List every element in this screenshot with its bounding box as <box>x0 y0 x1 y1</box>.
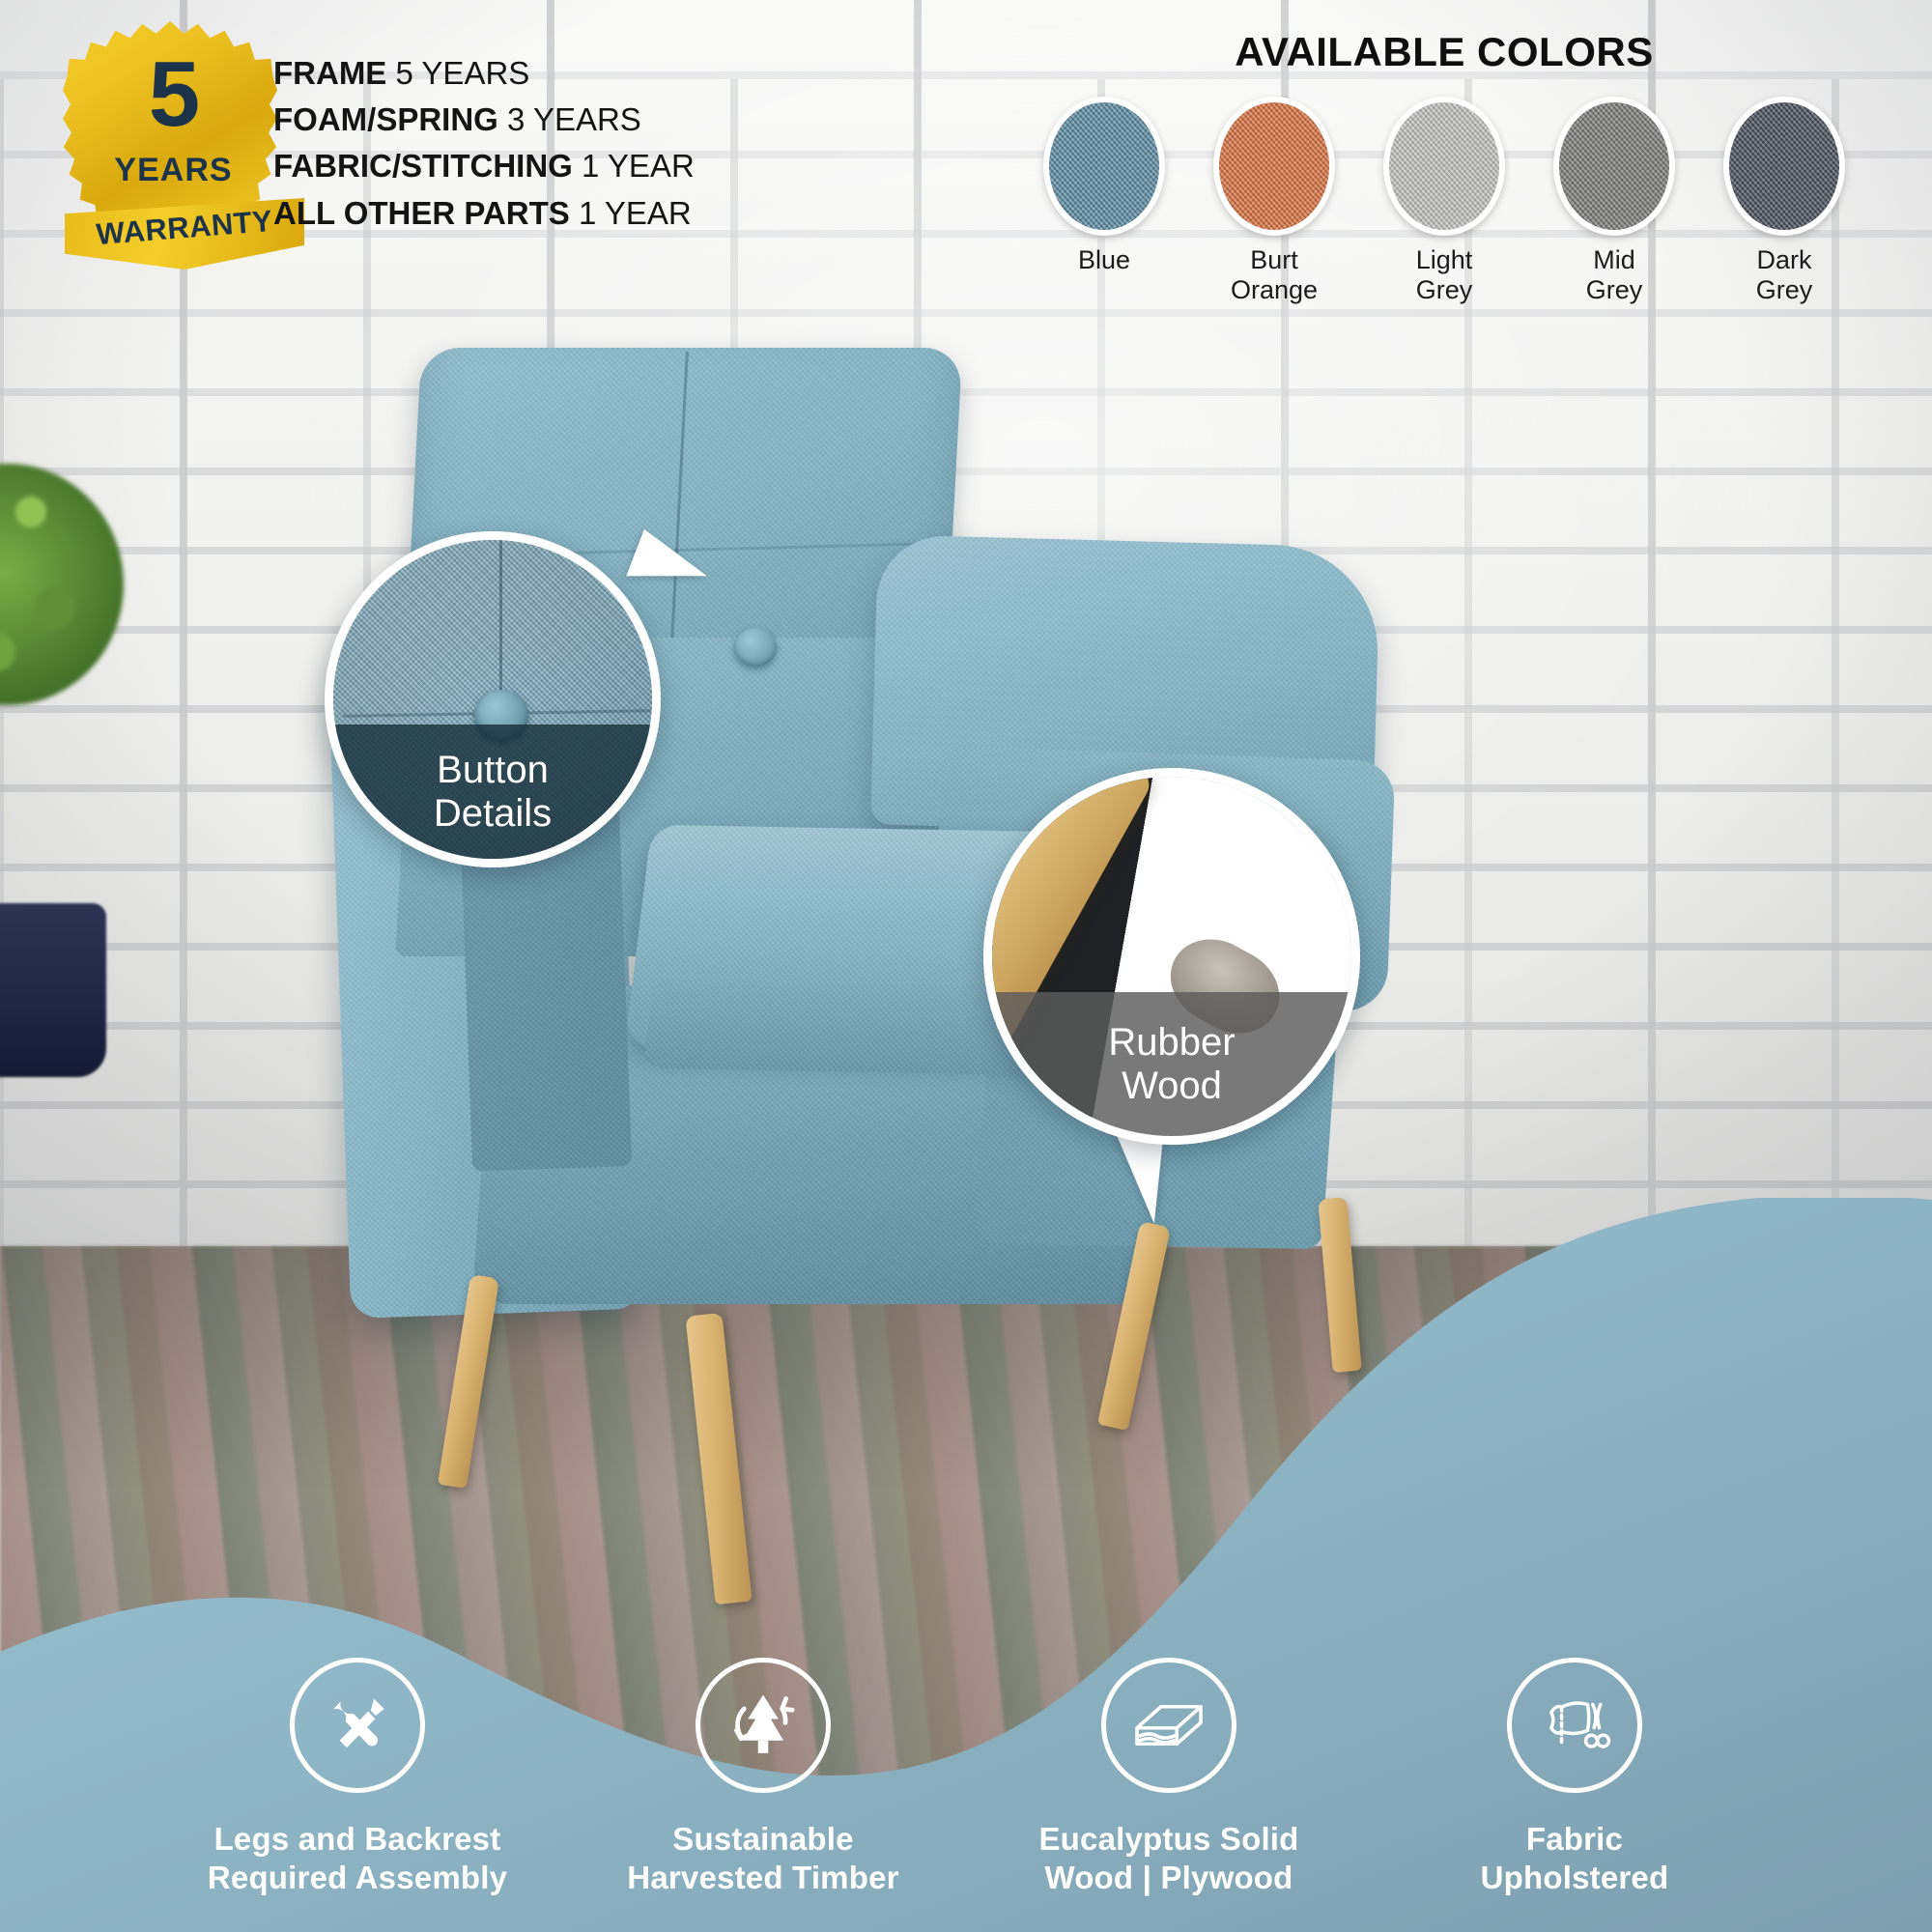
feature-label: Fabric Upholstered <box>1372 1820 1777 1898</box>
warranty-line: FABRIC/STITCHING 1 YEAR <box>273 143 814 189</box>
callout-caption-line1: Button <box>437 749 549 792</box>
warranty-value: 1 YEAR <box>582 148 695 184</box>
callout-button-details: Button Details <box>325 531 661 867</box>
feature-label: Sustainable Harvested Timber <box>560 1820 966 1898</box>
badge-years-label: YEARS <box>55 152 292 189</box>
swatch-label: Light Grey <box>1373 245 1516 305</box>
cushion-scissors-icon <box>1507 1658 1642 1793</box>
swatch-label: Burt Orange <box>1203 245 1346 305</box>
tree-recycle-icon <box>696 1658 831 1793</box>
warranty-term: ALL OTHER PARTS <box>273 195 570 231</box>
warranty-terms-list: FRAME 5 YEARS FOAM/SPRING 3 YEARS FABRIC… <box>273 50 814 237</box>
tools-icon <box>290 1658 425 1793</box>
potted-topiary-plant <box>0 464 193 1256</box>
warranty-line: FOAM/SPRING 3 YEARS <box>273 97 814 143</box>
tufted-button <box>734 628 777 667</box>
feature-highlights-row: Legs and Backrest Required Assembly Sust… <box>0 1658 1932 1898</box>
feature-label: Legs and Backrest Required Assembly <box>155 1820 560 1898</box>
plant-foliage <box>0 464 124 705</box>
callout-rubber-wood: Rubber Wood <box>983 768 1360 1145</box>
warranty-term: FABRIC/STITCHING <box>273 148 573 184</box>
available-colors-title: AVAILABLE COLORS <box>995 29 1893 75</box>
badge-years-number: 5 <box>55 48 292 141</box>
feature-legs-backrest-assembly: Legs and Backrest Required Assembly <box>155 1658 560 1898</box>
feature-label: Eucalyptus Solid Wood | Plywood <box>966 1820 1372 1898</box>
color-swatch-mid-grey[interactable]: Mid Grey <box>1543 97 1686 305</box>
swatch-circle[interactable] <box>1213 97 1335 236</box>
color-swatch-dark-grey[interactable]: Dark Grey <box>1713 97 1856 305</box>
feature-eucalyptus-plywood: Eucalyptus Solid Wood | Plywood <box>966 1658 1372 1898</box>
swatch-circle[interactable] <box>1723 97 1845 236</box>
callout-caption-line2: Wood <box>1122 1065 1222 1108</box>
warranty-value: 5 YEARS <box>396 55 530 91</box>
callout-caption: Button Details <box>333 724 652 859</box>
available-colors-section: AVAILABLE COLORS Blue Burt Orange Light … <box>995 29 1893 305</box>
warranty-term: FOAM/SPRING <box>273 101 498 137</box>
color-swatch-blue[interactable]: Blue <box>1033 97 1176 305</box>
warranty-line: FRAME 5 YEARS <box>273 50 814 97</box>
swatch-label: Dark Grey <box>1713 245 1856 305</box>
color-swatch-burt-orange[interactable]: Burt Orange <box>1203 97 1346 305</box>
plywood-slab-icon <box>1101 1658 1236 1793</box>
swatch-circle[interactable] <box>1553 97 1675 236</box>
warranty-value: 1 YEAR <box>579 195 692 231</box>
swatch-label: Mid Grey <box>1543 245 1686 305</box>
callout-caption-line2: Details <box>434 792 552 836</box>
feature-sustainable-timber: Sustainable Harvested Timber <box>560 1658 966 1898</box>
warranty-term: FRAME <box>273 55 386 91</box>
warranty-badge: 5 YEARS WARRANTY <box>55 21 292 263</box>
warranty-value: 3 YEARS <box>507 101 641 137</box>
callout-caption: Rubber Wood <box>992 992 1351 1136</box>
warranty-line: ALL OTHER PARTS 1 YEAR <box>273 190 814 237</box>
plant-pot <box>0 903 106 1077</box>
swatch-circle[interactable] <box>1043 97 1165 236</box>
swatch-circle[interactable] <box>1383 97 1505 236</box>
color-swatch-light-grey[interactable]: Light Grey <box>1373 97 1516 305</box>
callout-seam-vertical <box>499 540 502 714</box>
callout-caption-line1: Rubber <box>1108 1021 1235 1065</box>
swatch-label: Blue <box>1033 245 1176 275</box>
feature-fabric-upholstered: Fabric Upholstered <box>1372 1658 1777 1898</box>
color-swatch-row: Blue Burt Orange Light Grey Mid Grey <box>995 97 1893 305</box>
